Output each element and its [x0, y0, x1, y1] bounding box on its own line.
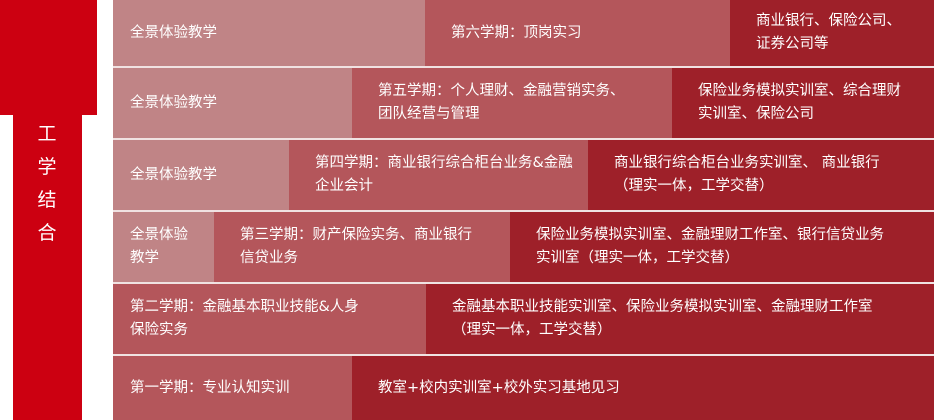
grid-cell: 全景体验 教学 — [113, 212, 214, 282]
grid-row: 全景体验 教学第三学期：财产保险实务、商业银行 信贷业务保险业务模拟实训室、金融… — [113, 210, 934, 282]
grid-cell: 教室+校内实训室+校外实习基地见习 — [352, 356, 934, 420]
grid-cell: 第一学期：专业认知实训 — [113, 356, 352, 420]
banner-label: 工 学 结 合 — [13, 118, 82, 250]
grid-row: 全景体验教学第四学期：商业银行综合柜台业务&金融 企业会计商业银行综合柜台业务实… — [113, 138, 934, 210]
grid-cell: 第五学期：个人理财、金融营销实务、 团队经营与管理 — [352, 68, 672, 138]
grid-cell: 全景体验教学 — [113, 68, 352, 138]
grid-cell: 第三学期：财产保险实务、商业银行 信贷业务 — [214, 212, 510, 282]
banner-top-block — [0, 0, 97, 115]
grid-cell: 全景体验教学 — [113, 140, 289, 210]
grid-cell: 保险业务模拟实训室、综合理财 实训室、保险公司 — [672, 68, 934, 138]
grid-cell: 第四学期：商业银行综合柜台业务&金融 企业会计 — [289, 140, 588, 210]
grid-row: 全景体验教学第六学期：顶岗实习商业银行、保险公司、 证券公司等 — [113, 0, 934, 66]
grid-cell: 商业银行综合柜台业务实训室、 商业银行 （理实一体，工学交替） — [588, 140, 934, 210]
grid-cell: 第六学期：顶岗实习 — [425, 0, 730, 66]
grid-cell: 商业银行、保险公司、 证券公司等 — [730, 0, 934, 66]
grid-cell: 第二学期：金融基本职业技能&人身 保险实务 — [113, 284, 426, 354]
grid-cell: 保险业务模拟实训室、金融理财工作室、银行信贷业务 实训室（理实一体，工学交替） — [510, 212, 934, 282]
work-study-banner: 工 学 结 合 — [0, 0, 97, 420]
grid-row: 第二学期：金融基本职业技能&人身 保险实务金融基本职业技能实训室、保险业务模拟实… — [113, 282, 934, 354]
grid-cell: 金融基本职业技能实训室、保险业务模拟实训室、金融理财工作室 （理实一体，工学交替… — [426, 284, 934, 354]
grid-row: 第一学期：专业认知实训教室+校内实训室+校外实习基地见习 — [113, 354, 934, 420]
semester-practice-grid: 全景体验教学第六学期：顶岗实习商业银行、保险公司、 证券公司等全景体验教学第五学… — [113, 0, 934, 420]
grid-row: 全景体验教学第五学期：个人理财、金融营销实务、 团队经营与管理保险业务模拟实训室… — [113, 66, 934, 138]
grid-cell: 全景体验教学 — [113, 0, 425, 66]
